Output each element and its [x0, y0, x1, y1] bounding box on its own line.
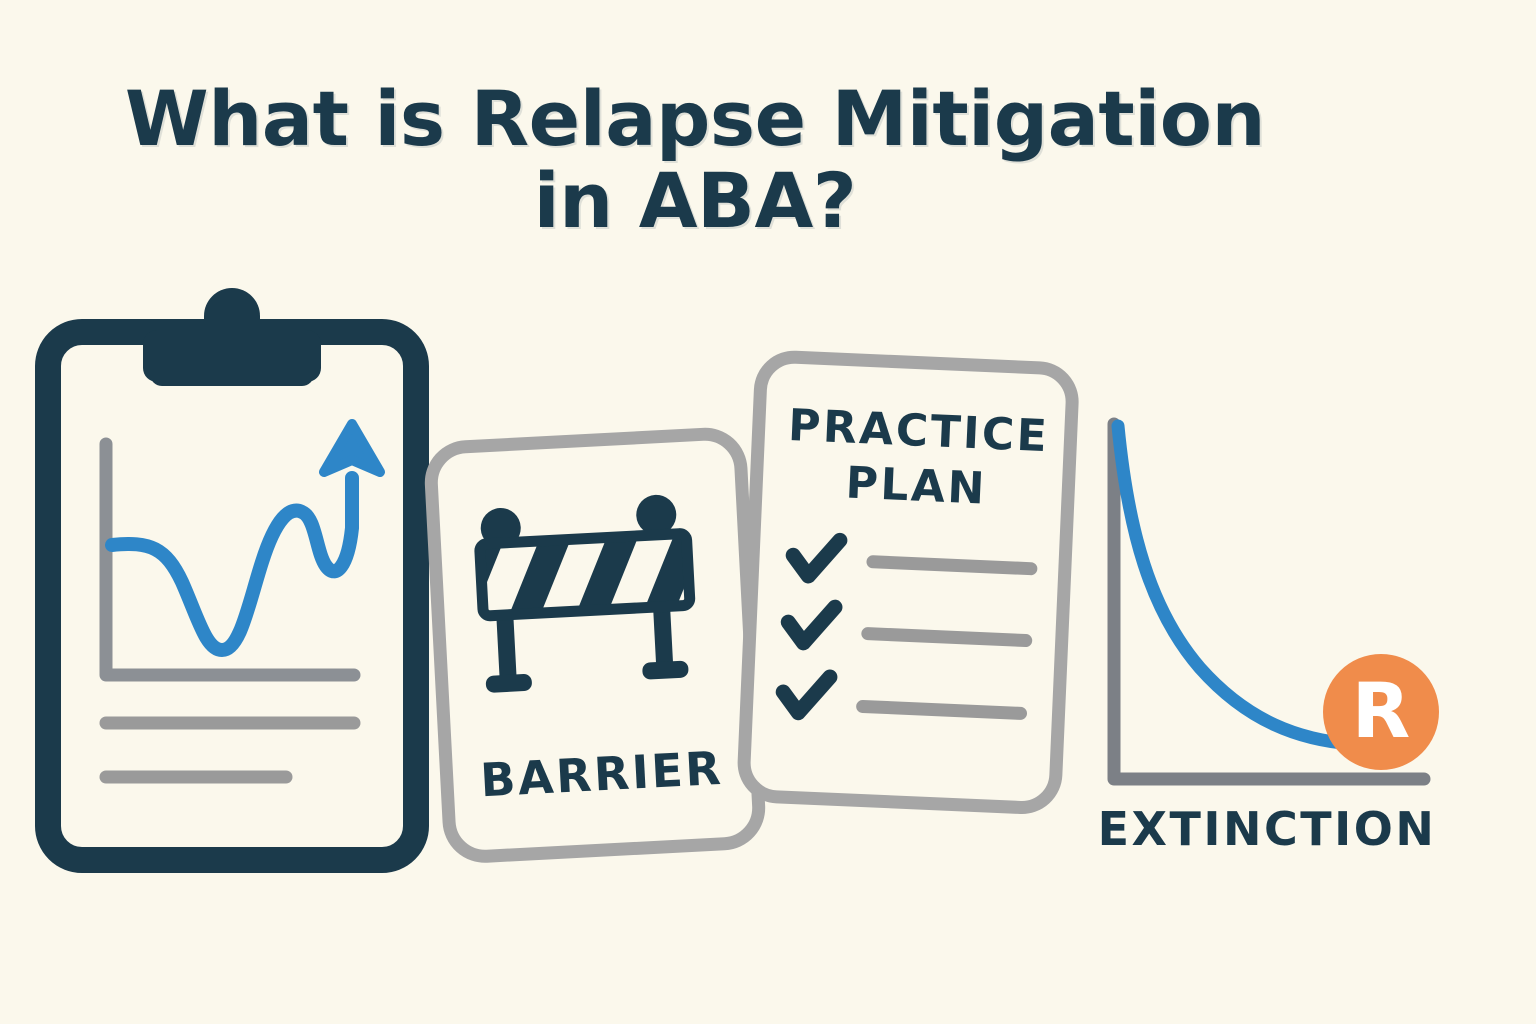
practice-plan-line-2 [868, 634, 1026, 641]
page-title-line-1: What is Relapse Mitigation [0, 78, 1390, 160]
practice-plan-line-1 [873, 562, 1031, 569]
practice-plan-line-3 [863, 706, 1021, 713]
clipboard-clip-knob [204, 288, 260, 344]
response-marker[interactable]: R [1323, 654, 1439, 770]
practice-plan-card[interactable]: PRACTICE PLAN [743, 356, 1074, 809]
practice-plan-title-line-2: PLAN [845, 458, 988, 515]
barrier-foot-right [642, 660, 689, 679]
clipboard-trend-line [112, 478, 352, 650]
page-title: What is Relapse Mitigation in ABA? [0, 78, 1390, 242]
barrier-card[interactable]: BARRIER [429, 432, 762, 858]
extinction-graph-label: EXTINCTION [1098, 802, 1437, 856]
barrier-foot-left [485, 674, 532, 693]
extinction-decay-curve [1118, 426, 1352, 744]
clipboard-trend-arrowhead [324, 424, 380, 472]
extinction-graph: R EXTINCTION [1098, 424, 1439, 856]
illustration-canvas: What is Relapse Mitigation in ABA? [0, 0, 1536, 1024]
response-marker-letter: R [1352, 666, 1411, 755]
page-title-line-2: in ABA? [0, 160, 1390, 242]
clipboard-icon [48, 288, 416, 860]
